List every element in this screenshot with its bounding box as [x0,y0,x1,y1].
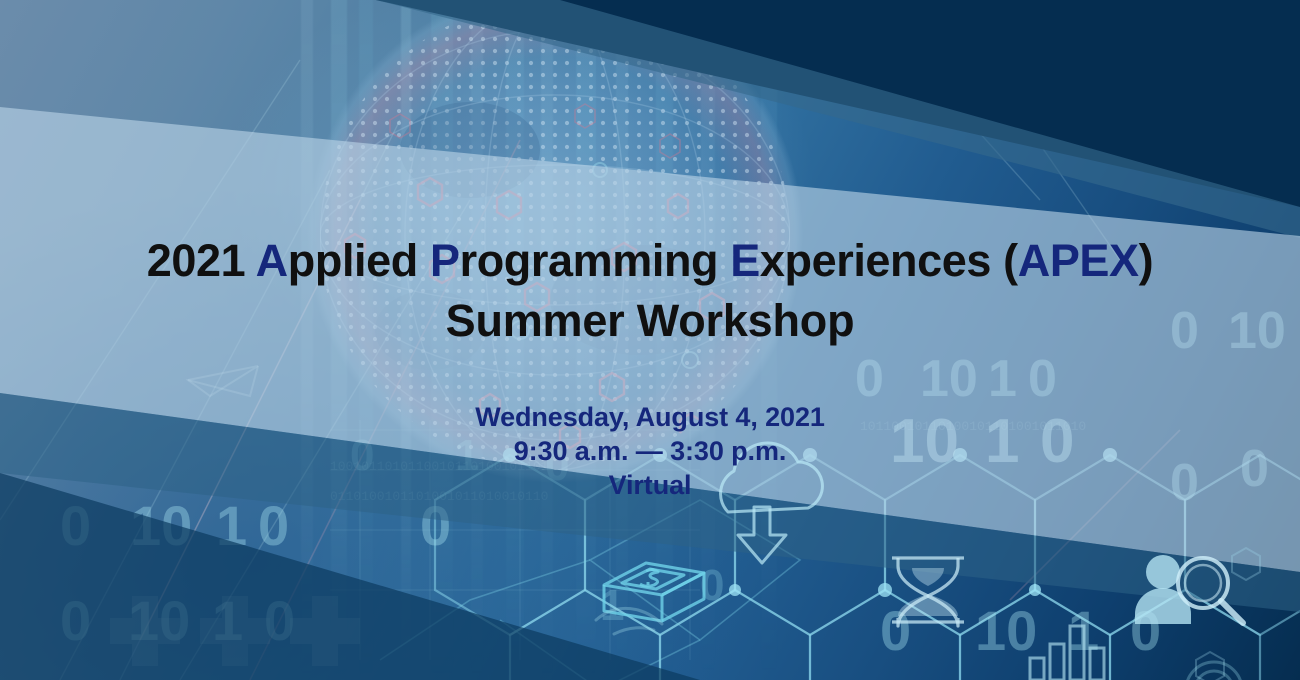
event-location: Virtual [0,468,1300,502]
title-seg-e: E [730,235,760,286]
title-seg-close-paren: ) [1139,235,1154,286]
title-seg-pplied: pplied [288,235,430,286]
banner-text-block: 2021 Applied Programming Experiences (AP… [0,0,1300,680]
event-date: Wednesday, August 4, 2021 [0,400,1300,434]
event-details: Wednesday, August 4, 2021 9:30 a.m. — 3:… [0,400,1300,502]
event-title-line-2: Summer Workshop [0,294,1300,348]
title-seg-a: A [256,235,288,286]
title-seg-year: 2021 [147,235,256,286]
title-seg-apex: APEX [1018,235,1139,286]
event-banner: 0 10 0 10 1 0 0 0 10 1 0 0 10 1 0 0 0 10… [0,0,1300,680]
title-seg-p: P [430,235,460,286]
title-seg-summer-workshop: Summer Workshop [446,295,855,346]
title-seg-xperiences: xperiences ( [760,235,1018,286]
event-title-line-1: 2021 Applied Programming Experiences (AP… [0,234,1300,288]
title-seg-rogramming: rogramming [460,235,731,286]
event-time: 9:30 a.m. — 3:30 p.m. [0,434,1300,468]
